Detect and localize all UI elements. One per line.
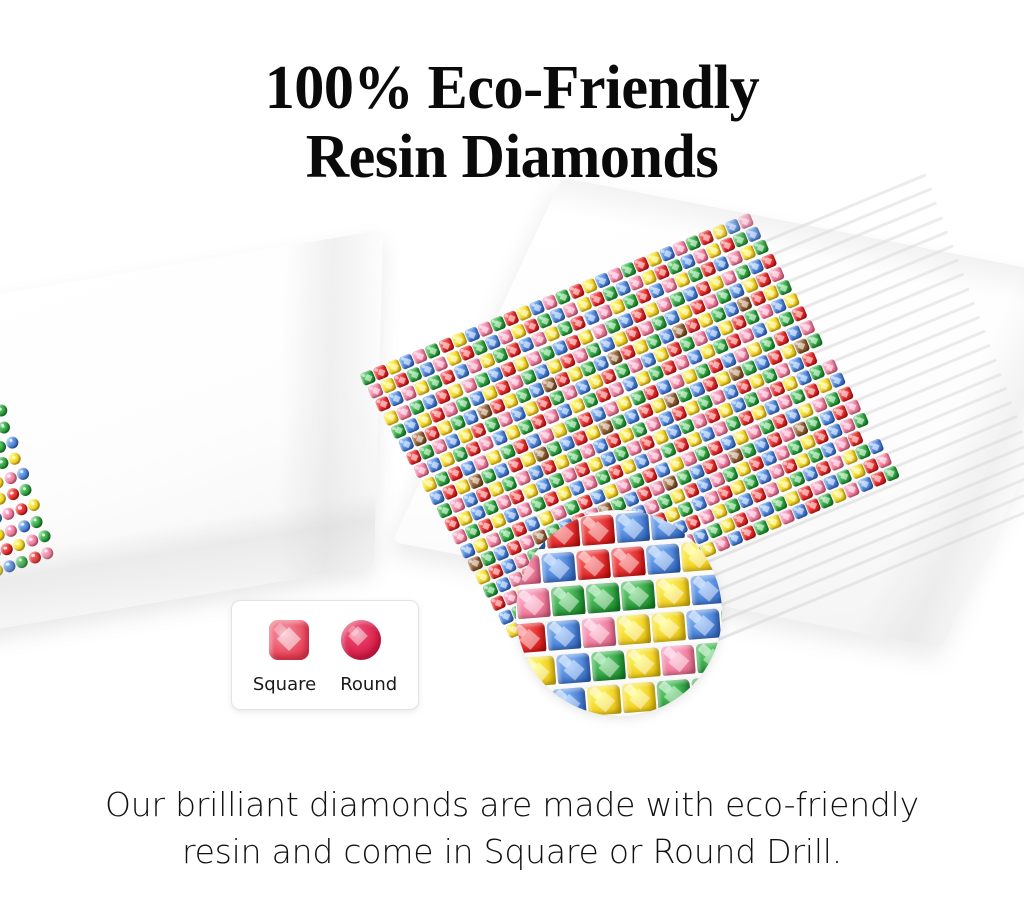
magnified-square-drill [552, 687, 587, 716]
poster-canvas: 100% Eco-Friendly Resin Diamonds Square … [0, 0, 1024, 922]
magnified-square-drill [690, 574, 722, 607]
drill-type-legend: Square Round [231, 600, 419, 710]
magnified-square-drill [587, 684, 622, 716]
magnified-drill-rows [516, 510, 722, 716]
legend-label-round: Round [340, 674, 397, 695]
magnified-square-drill [517, 690, 552, 716]
magnified-square-drill [721, 606, 722, 639]
page-caption: Our brilliant diamonds are made with eco… [0, 782, 1024, 876]
round-drill-icon [341, 620, 381, 660]
square-drill-icon [269, 620, 309, 660]
magnified-square-drill [691, 676, 722, 709]
magnified-square-drill [720, 510, 722, 537]
legend-labels: Square Round [232, 667, 418, 701]
caption-line-2: resin and come in Square or Round Drill. [0, 829, 1024, 876]
magnified-square-drill [715, 538, 722, 571]
zoom-circle-inset [516, 510, 722, 716]
caption-line-1: Our brilliant diamonds are made with eco… [105, 785, 919, 824]
headline-line-1: 100% Eco-Friendly [265, 54, 760, 122]
round-drill-tray [0, 274, 382, 626]
magnified-square-drill [696, 642, 722, 675]
legend-label-square: Square [253, 674, 316, 695]
legend-swatches [232, 615, 418, 665]
tray-rim-left [0, 230, 383, 649]
